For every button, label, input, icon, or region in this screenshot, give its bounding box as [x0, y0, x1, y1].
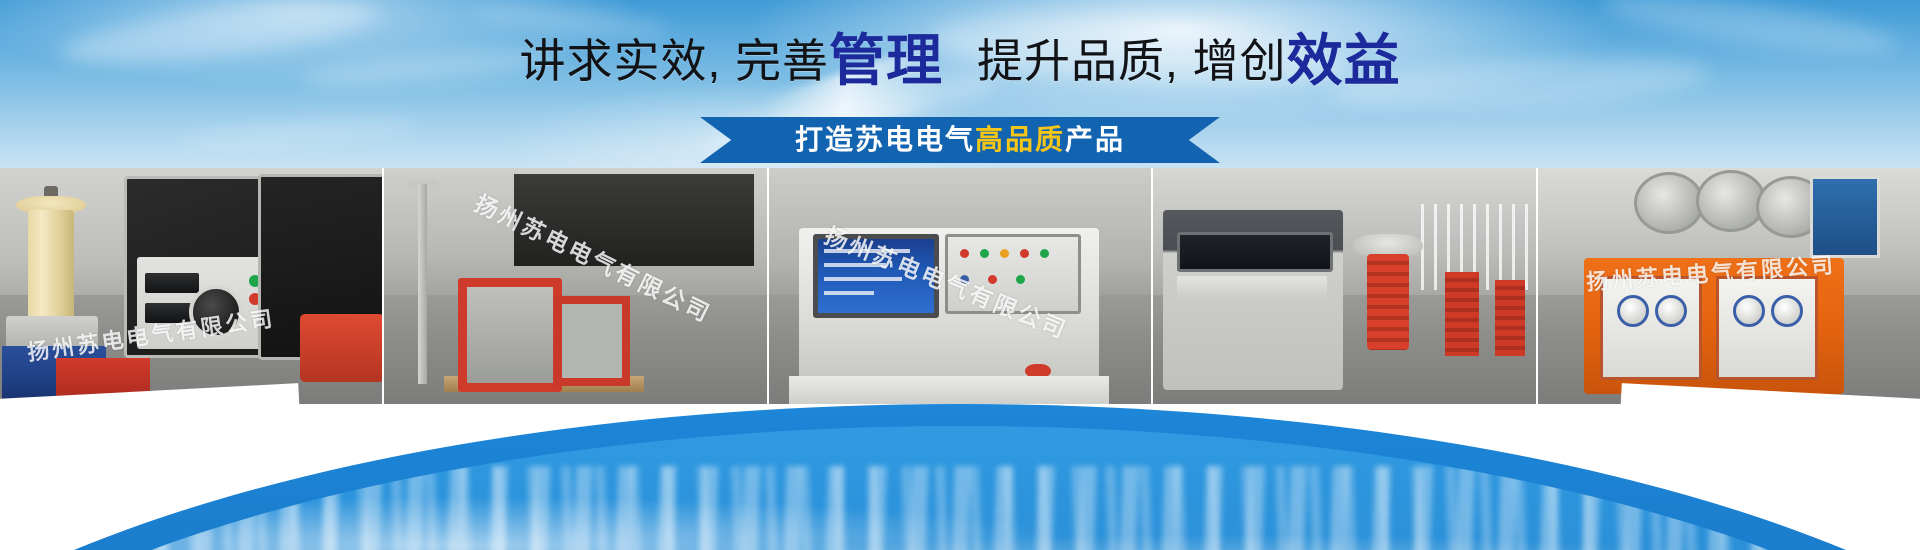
case-control-panel: [137, 257, 273, 349]
red-test-frame: [554, 296, 630, 386]
cabinet-display: [1177, 232, 1333, 272]
cloud-wisp-icon: [179, 112, 420, 155]
workshop-bay-shadow: [514, 174, 754, 266]
pressure-gauge: [1771, 295, 1803, 327]
banner-headline: 讲求实效, 完善管理提升品质, 增创效益: [0, 33, 1920, 89]
ribbon-shape: 打造苏电电气高品质产品: [700, 117, 1220, 163]
ribbon-text: 打造苏电电气高品质产品: [795, 126, 1125, 154]
indicator-led-red: [960, 249, 969, 258]
pressure-gauge: [1733, 295, 1765, 327]
indicator-led-blue: [960, 275, 969, 284]
photo-panel-1: 扬州苏电电气有限公司: [0, 168, 384, 404]
red-hv-insulator: [1367, 254, 1409, 350]
red-carry-case: [300, 314, 384, 382]
screen-line: [824, 263, 886, 267]
photo-panel-4: [1153, 168, 1537, 404]
headline-emphasis-1: 管理: [829, 29, 943, 92]
indicator-led-green: [1016, 275, 1025, 284]
rotary-dial-knob: [189, 285, 243, 339]
transformer-coil: [28, 210, 74, 320]
red-hv-insulator: [1445, 272, 1479, 356]
screen-line: [824, 277, 902, 281]
ribbon-highlight: 高品质: [975, 124, 1065, 155]
red-test-frame: [458, 278, 562, 392]
photo-strip: 扬州苏电电气有限公司 扬州苏电电气有限公司: [0, 168, 1920, 404]
arc-cloud-texture: [0, 466, 1920, 550]
indicator-led-red: [1020, 249, 1029, 258]
ventilation-duct: [1696, 170, 1766, 232]
ribbon-suffix: 产品: [1065, 124, 1125, 155]
purifier-door-right: [1716, 276, 1818, 380]
analog-meter: [145, 273, 199, 293]
screen-line: [824, 291, 874, 295]
console-display-screen: [813, 234, 939, 318]
ribbon-badge: 打造苏电电气高品质产品: [700, 117, 1220, 163]
screen-line: [824, 249, 910, 253]
blue-control-cabinet: [1810, 176, 1880, 258]
promo-banner: 讲求实效, 完善管理提升品质, 增创效益 打造苏电电气高品质产品: [0, 0, 1920, 550]
console-control-panel: [945, 234, 1081, 314]
ribbon-prefix: 打造苏电电气: [795, 124, 975, 155]
cabinet-control-row: [1177, 276, 1327, 298]
photo-panel-3: 扬州苏电电气有限公司: [769, 168, 1153, 404]
support-pole: [418, 184, 427, 384]
console-desk: [789, 376, 1109, 404]
pressure-gauge: [1655, 295, 1687, 327]
orange-oil-purifier: [1584, 258, 1844, 394]
headline-part-1: 讲求实效, 完善: [519, 35, 829, 87]
headline-part-2: 提升品质, 增创: [977, 35, 1287, 87]
ventilation-duct: [1634, 172, 1704, 234]
red-hv-insulator: [1495, 280, 1525, 356]
photo-panel-2: 扬州苏电电气有限公司: [384, 168, 768, 404]
purifier-door-left: [1600, 276, 1702, 380]
indicator-led-amber: [1000, 249, 1009, 258]
bottom-arc: [0, 404, 1920, 550]
transformer-base: [6, 316, 98, 350]
photo-panel-5: 扬州苏电电气有限公司: [1538, 168, 1920, 404]
safety-railing: [1421, 204, 1537, 290]
indicator-led-green: [1040, 249, 1049, 258]
indicator-led-red: [988, 275, 997, 284]
pressure-gauge: [1617, 295, 1649, 327]
headline-emphasis-2: 效益: [1287, 29, 1401, 92]
indicator-led-green: [980, 249, 989, 258]
arc-inner-sky: [0, 426, 1920, 550]
